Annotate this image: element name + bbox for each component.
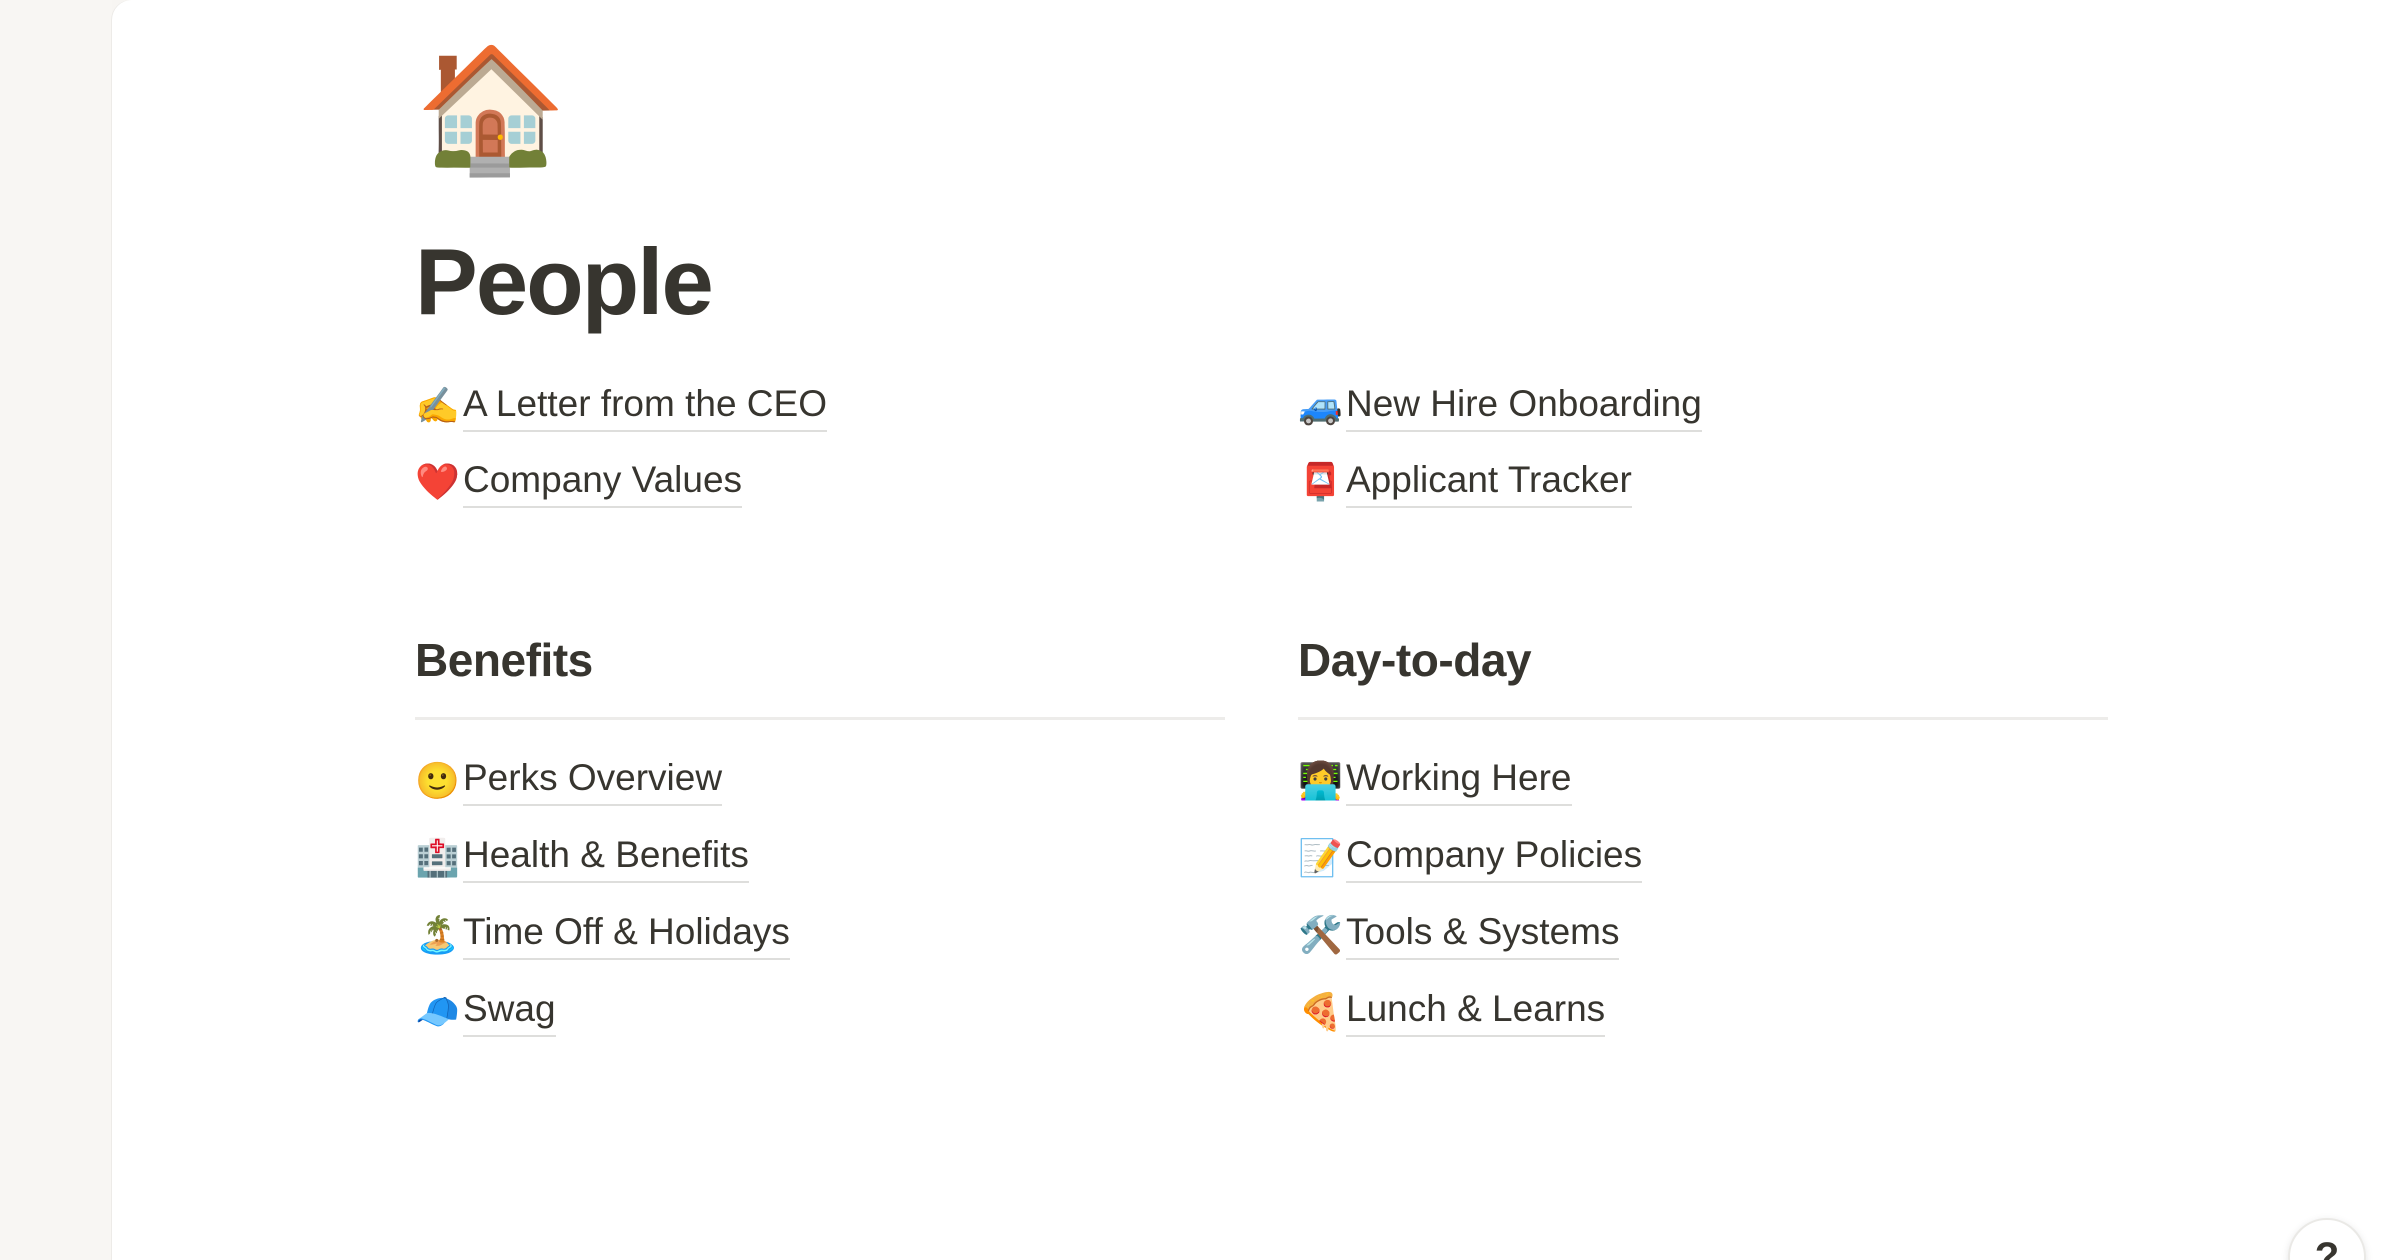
link-row[interactable]: 🚙 New Hire Onboarding xyxy=(1298,381,2108,431)
link-list: 👩‍💻 Working Here 📝 Company Policies 🛠️ T… xyxy=(1298,756,2108,1037)
link-row[interactable]: 👩‍💻 Working Here xyxy=(1298,756,2108,806)
postbox-emoji: 📮 xyxy=(1298,464,1346,500)
desert-island-emoji: 🏝️ xyxy=(415,917,463,953)
section-day-to-day: Day-to-day 👩‍💻 Working Here 📝 Company Po… xyxy=(1298,555,2108,1063)
link-row[interactable]: 🧢 Swag xyxy=(415,987,1225,1037)
page-title: People xyxy=(415,230,2215,333)
link-label[interactable]: Health & Benefits xyxy=(463,832,749,883)
link-label[interactable]: Company Values xyxy=(463,457,742,508)
link-row[interactable]: ❤️ Company Values xyxy=(415,457,1225,507)
link-label[interactable]: Tools & Systems xyxy=(1346,909,1619,960)
pizza-emoji: 🍕 xyxy=(1298,994,1346,1030)
hammer-and-wrench-emoji: 🛠️ xyxy=(1298,917,1346,953)
link-label[interactable]: Working Here xyxy=(1346,755,1572,806)
top-links-left-column: ✍️ A Letter from the CEO ❤️ Company Valu… xyxy=(415,381,1225,507)
link-list: 🙂 Perks Overview 🏥 Health & Benefits 🏝️ … xyxy=(415,756,1225,1037)
section-divider xyxy=(415,717,1225,720)
memo-emoji: 📝 xyxy=(1298,840,1346,876)
link-label[interactable]: New Hire Onboarding xyxy=(1346,381,1702,432)
section: Day-to-day 👩‍💻 Working Here 📝 Company Po… xyxy=(1298,633,2108,1036)
link-row[interactable]: 🙂 Perks Overview xyxy=(415,756,1225,806)
link-row[interactable]: 🛠️ Tools & Systems xyxy=(1298,910,2108,960)
section-columns: Benefits 🙂 Perks Overview 🏥 Health & Ben… xyxy=(415,555,2215,1063)
house-emoji[interactable]: 🏠 xyxy=(415,48,2215,188)
link-row[interactable]: 🏥 Health & Benefits xyxy=(415,833,1225,883)
link-label[interactable]: Applicant Tracker xyxy=(1346,457,1632,508)
red-heart-emoji: ❤️ xyxy=(415,464,463,500)
link-label[interactable]: Swag xyxy=(463,986,556,1037)
woman-technologist-emoji: 👩‍💻 xyxy=(1298,763,1346,799)
link-list: 🚙 New Hire Onboarding 📮 Applicant Tracke… xyxy=(1298,381,2108,507)
billed-cap-emoji: 🧢 xyxy=(415,994,463,1030)
section-divider xyxy=(1298,717,2108,720)
link-label[interactable]: Lunch & Learns xyxy=(1346,986,1605,1037)
help-button[interactable]: ? xyxy=(2288,1218,2366,1260)
page-panel: 🏠 People ✍️ A Letter from the CEO ❤️ Com… xyxy=(112,0,2400,1260)
page-content: 🏠 People ✍️ A Letter from the CEO ❤️ Com… xyxy=(415,0,2215,1064)
link-label[interactable]: Company Policies xyxy=(1346,832,1642,883)
link-row[interactable]: 📮 Applicant Tracker xyxy=(1298,457,2108,507)
link-row[interactable]: ✍️ A Letter from the CEO xyxy=(415,381,1225,431)
writing-hand-emoji: ✍️ xyxy=(415,388,463,424)
slightly-smiling-face-emoji: 🙂 xyxy=(415,763,463,799)
car-emoji: 🚙 xyxy=(1298,388,1346,424)
link-label[interactable]: Perks Overview xyxy=(463,755,722,806)
link-label[interactable]: A Letter from the CEO xyxy=(463,381,827,432)
top-links-right-column: 🚙 New Hire Onboarding 📮 Applicant Tracke… xyxy=(1298,381,2108,507)
link-row[interactable]: 📝 Company Policies xyxy=(1298,833,2108,883)
hospital-emoji: 🏥 xyxy=(415,840,463,876)
section-benefits: Benefits 🙂 Perks Overview 🏥 Health & Ben… xyxy=(415,555,1225,1063)
sidebar-rail[interactable] xyxy=(0,0,112,1260)
section-heading: Day-to-day xyxy=(1298,633,2108,688)
top-link-columns: ✍️ A Letter from the CEO ❤️ Company Valu… xyxy=(415,381,2215,507)
link-list: ✍️ A Letter from the CEO ❤️ Company Valu… xyxy=(415,381,1225,507)
section: Benefits 🙂 Perks Overview 🏥 Health & Ben… xyxy=(415,633,1225,1036)
link-row[interactable]: 🏝️ Time Off & Holidays xyxy=(415,910,1225,960)
section-heading: Benefits xyxy=(415,633,1225,688)
link-label[interactable]: Time Off & Holidays xyxy=(463,909,790,960)
link-row[interactable]: 🍕 Lunch & Learns xyxy=(1298,987,2108,1037)
